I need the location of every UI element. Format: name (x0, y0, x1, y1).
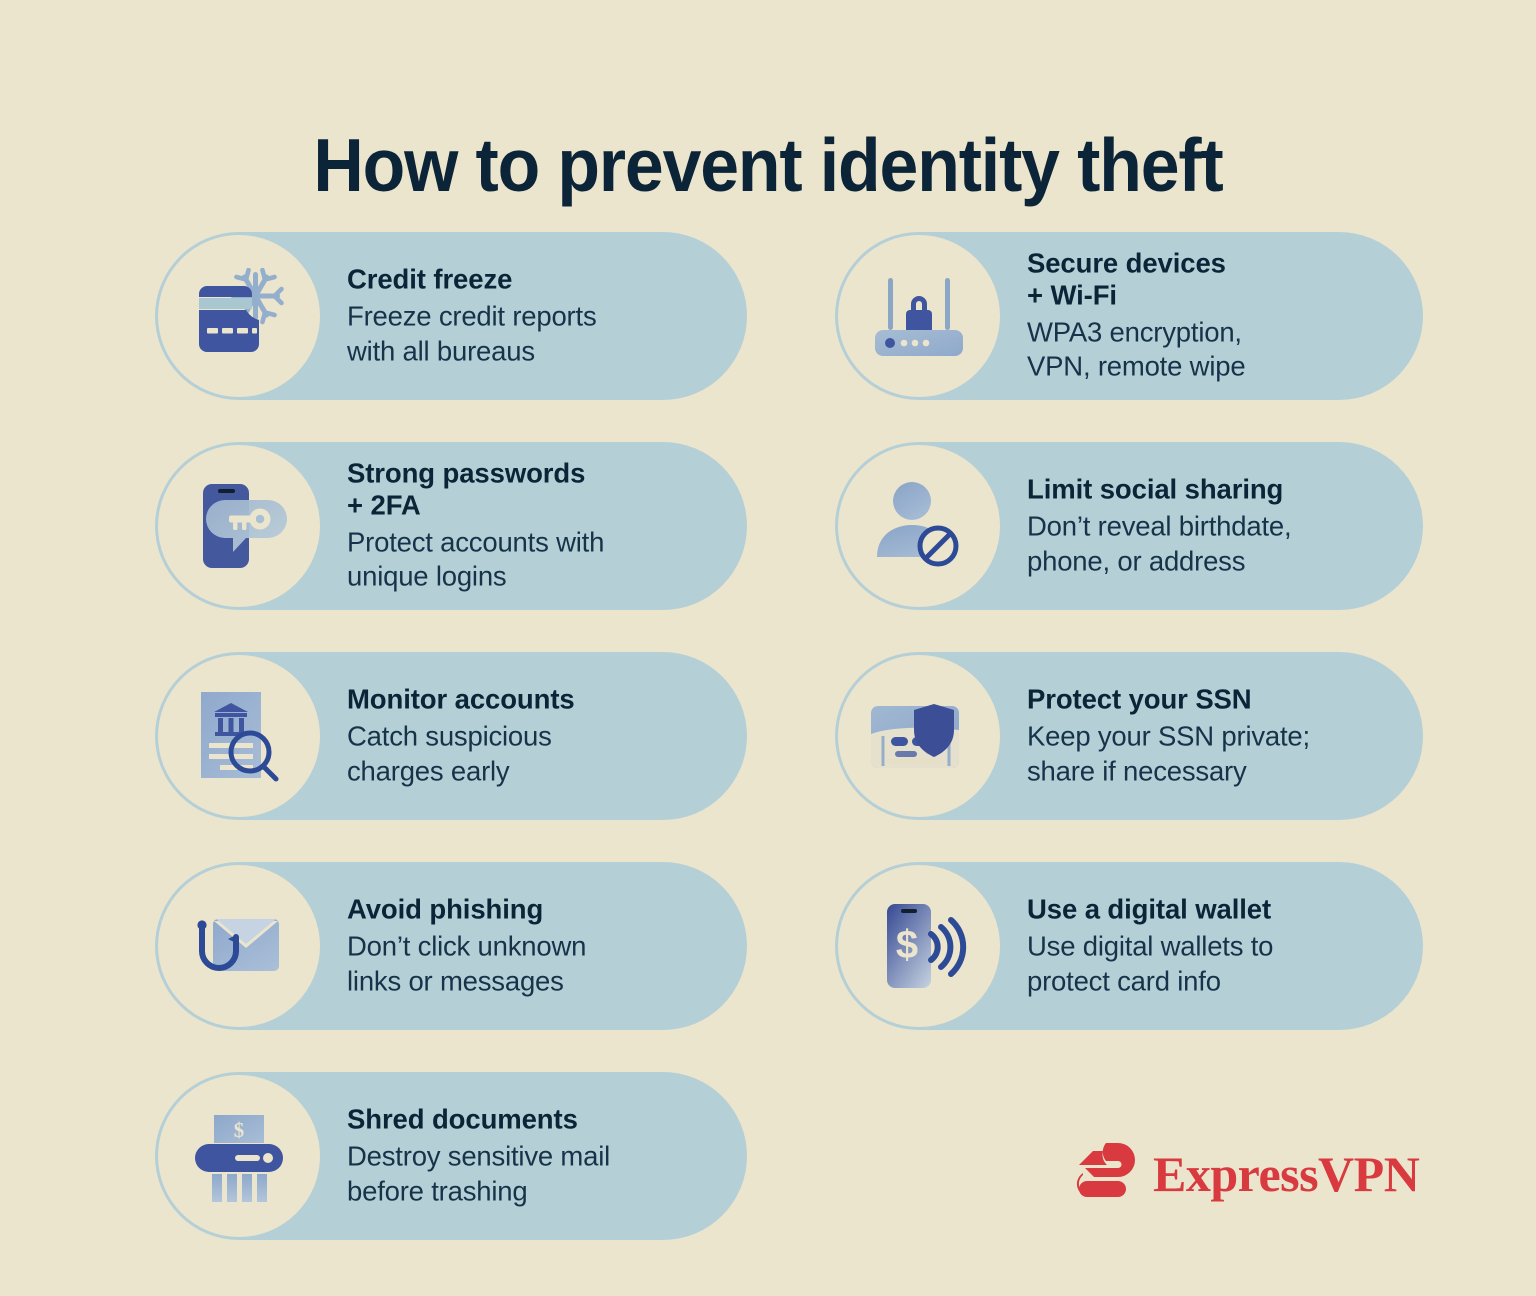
svg-text:$: $ (234, 1118, 245, 1142)
card-secure-devices[interactable]: Secure devices + Wi-Fi WPA3 encryption, … (835, 232, 1423, 400)
card-description: Keep your SSN private; share if necessar… (1027, 719, 1401, 788)
svg-text:$: $ (896, 923, 918, 967)
card-text: Shred documents Destroy sensitive mail b… (347, 1103, 725, 1208)
paper-shredder-icon: $ (158, 1075, 320, 1237)
card-description: Use digital wallets to protect card info (1027, 929, 1401, 998)
card-avoid-phishing[interactable]: Avoid phishing Don’t click unknown links… (155, 862, 747, 1030)
card-protect-ssn[interactable]: Protect your SSN Keep your SSN private; … (835, 652, 1423, 820)
expressvpn-e-mark-icon (1073, 1139, 1139, 1208)
card-text: Credit freeze Freeze credit reports with… (347, 263, 725, 368)
card-digital-wallet[interactable]: $ Use a digital wallet Use digital walle… (835, 862, 1423, 1030)
card-title: Avoid phishing (347, 893, 725, 925)
card-text: Secure devices + Wi-Fi WPA3 encryption, … (1027, 247, 1401, 384)
bank-statement-magnifier-icon (158, 655, 320, 817)
router-lock-icon (838, 235, 1000, 397)
card-description: Don’t click unknown links or messages (347, 929, 725, 998)
card-title: Limit social sharing (1027, 473, 1401, 505)
card-text: Limit social sharing Don’t reveal birthd… (1027, 473, 1401, 578)
card-title: Shred documents (347, 1103, 725, 1135)
card-monitor-accounts[interactable]: Monitor accounts Catch suspicious charge… (155, 652, 747, 820)
card-title: Monitor accounts (347, 683, 725, 715)
expressvpn-logo[interactable]: ExpressVPN (1073, 1139, 1419, 1208)
card-text: Monitor accounts Catch suspicious charge… (347, 683, 725, 788)
phone-key-icon (158, 445, 320, 607)
card-limit-social-sharing[interactable]: Limit social sharing Don’t reveal birthd… (835, 442, 1423, 610)
credit-card-snowflake-icon (158, 235, 320, 397)
card-title: Secure devices + Wi-Fi (1027, 247, 1401, 311)
person-no-entry-icon (838, 445, 1000, 607)
card-text: Strong passwords + 2FA Protect accounts … (347, 457, 725, 594)
card-description: Catch suspicious charges early (347, 719, 725, 788)
left-column: Credit freeze Freeze credit reports with… (155, 232, 747, 1282)
card-title: Protect your SSN (1027, 683, 1401, 715)
card-description: Don’t reveal birthdate, phone, or addres… (1027, 509, 1401, 578)
expressvpn-wordmark: ExpressVPN (1153, 1149, 1419, 1199)
right-column: Secure devices + Wi-Fi WPA3 encryption, … (835, 232, 1423, 1072)
card-strong-passwords[interactable]: Strong passwords + 2FA Protect accounts … (155, 442, 747, 610)
id-card-shield-icon (838, 655, 1000, 817)
card-title: Use a digital wallet (1027, 893, 1401, 925)
envelope-fishhook-icon (158, 865, 320, 1027)
card-text: Use a digital wallet Use digital wallets… (1027, 893, 1401, 998)
page-title: How to prevent identity theft (54, 128, 1482, 203)
card-shred-documents[interactable]: $ Shred documents Destroy sensitive mail… (155, 1072, 747, 1240)
card-description: WPA3 encryption, VPN, remote wipe (1027, 315, 1401, 384)
card-description: Destroy sensitive mail before trashing (347, 1139, 725, 1208)
card-title: Strong passwords + 2FA (347, 457, 725, 521)
card-title: Credit freeze (347, 263, 725, 295)
card-description: Freeze credit reports with all bureaus (347, 299, 725, 368)
card-text: Avoid phishing Don’t click unknown links… (347, 893, 725, 998)
card-text: Protect your SSN Keep your SSN private; … (1027, 683, 1401, 788)
phone-contactless-pay-icon: $ (838, 865, 1000, 1027)
card-description: Protect accounts with unique logins (347, 525, 725, 594)
card-credit-freeze[interactable]: Credit freeze Freeze credit reports with… (155, 232, 747, 400)
